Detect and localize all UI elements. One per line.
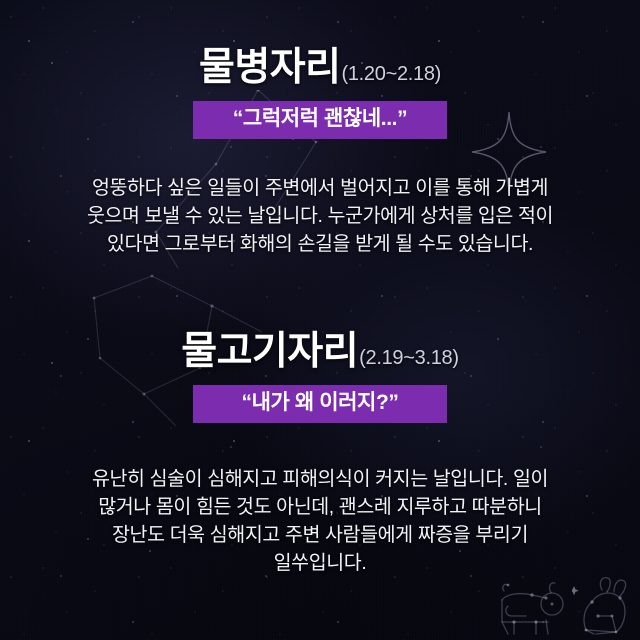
body-line: 있다면 그로부터 화해의 손길을 받게 될 수도 있습니다. <box>0 230 640 258</box>
body-line: 엉뚱하다 싶은 일들이 주변에서 벌어지고 이를 통해 가볍게 <box>0 174 640 202</box>
sign-body-aquarius: 엉뚱하다 싶은 일들이 주변에서 벌어지고 이를 통해 가볍게 웃으며 보낼 수… <box>0 174 640 258</box>
body-line: 장난도 더욱 심해지고 주변 사람들에게 짜증을 부리기 <box>0 521 640 549</box>
body-line: 유난히 심술이 심해지고 피해의식이 커지는 날입니다. 일이 <box>0 465 640 493</box>
sign-quote-badge-pisces: “내가 왜 이러지?” <box>193 385 447 423</box>
body-line: 많거나 몸이 힘든 것도 아닌데, 괜스레 지루하고 따분하니 <box>0 493 640 521</box>
sign-heading-pisces: 물고기자리(2.19~3.18) <box>0 332 640 371</box>
sign-name-aquarius: 물병자리 <box>199 46 341 89</box>
horoscope-card: 물병자리(1.20~2.18) “그럭저럭 괜찮네...” 엉뚱하다 싶은 일들… <box>0 0 640 640</box>
body-line: 웃으며 보낼 수 있는 날입니다. 누군가에게 상처를 입은 적이 <box>0 202 640 230</box>
sign-body-pisces: 유난히 심술이 심해지고 피해의식이 커지는 날입니다. 일이 많거나 몸이 힘… <box>0 465 640 577</box>
sign-dates-pisces: (2.19~3.18) <box>359 347 459 369</box>
sign-name-pisces: 물고기자리 <box>181 330 358 373</box>
sign-section-pisces: 물고기자리(2.19~3.18) “내가 왜 이러지?” <box>0 332 640 423</box>
body-line: 일쑤입니다. <box>0 549 640 577</box>
sign-section-aquarius: 물병자리(1.20~2.18) “그럭저럭 괜찮네...” <box>0 48 640 139</box>
sign-dates-aquarius: (1.20~2.18) <box>341 63 441 85</box>
sign-heading-aquarius: 물병자리(1.20~2.18) <box>0 48 640 87</box>
sign-quote-badge-aquarius: “그럭저럭 괜찮네...” <box>193 101 447 139</box>
